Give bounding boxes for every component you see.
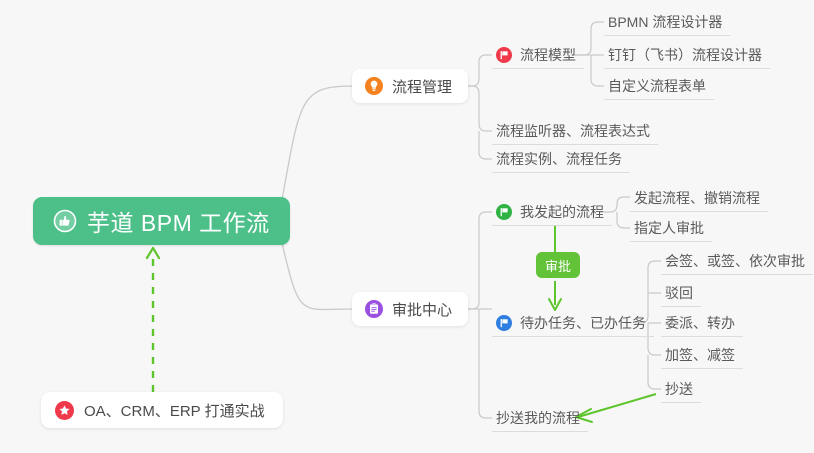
leaf-reject[interactable]: 驳回: [661, 279, 701, 307]
leaf-add-remove-sign[interactable]: 加签、减签: [661, 341, 743, 369]
bottom-card-to-root-arrowhead: [147, 248, 159, 258]
leaf-label-delegate-transfer: 委派、转办: [665, 313, 735, 333]
leaf-label-start-cancel-process: 发起流程、撤销流程: [634, 188, 760, 208]
connector-pm-trunk: [464, 55, 492, 86]
connector-ac-to-initiated: [464, 212, 492, 309]
leaf-delegate-transfer[interactable]: 委派、转办: [661, 309, 743, 337]
leaf-multi-sign[interactable]: 会签、或签、依次审批: [661, 247, 813, 275]
leaf-label-assignee-approval: 指定人审批: [634, 218, 704, 238]
node-label-cc-my-process: 抄送我的流程: [496, 408, 580, 428]
branch-node-process-management[interactable]: 流程管理: [352, 69, 468, 103]
leaf-start-cancel-process[interactable]: 发起流程、撤销流程: [630, 184, 768, 212]
leaf-label-dingtalk-designer: 钉钉（飞书）流程设计器: [608, 45, 762, 65]
connector-model-to-form: [591, 55, 604, 86]
node-process-model[interactable]: 流程模型: [492, 41, 584, 69]
leaf-bpmn-designer[interactable]: BPMN 流程设计器: [604, 8, 730, 36]
bottom-callout-card[interactable]: OA、CRM、ERP 打通实战: [41, 392, 283, 428]
branch-label-approval-center: 审批中心: [392, 299, 452, 320]
node-label-process-instance: 流程实例、流程任务: [496, 149, 622, 169]
leaf-dingtalk-designer[interactable]: 钉钉（飞书）流程设计器: [604, 41, 770, 69]
connector-ac-to-cc: [479, 309, 492, 418]
leaf-assignee-approval[interactable]: 指定人审批: [630, 214, 712, 242]
lightbulb-icon: [365, 77, 383, 95]
node-todo-done-tasks[interactable]: 待办任务、已办任务: [492, 309, 654, 337]
connector-pm-to-listener: [464, 86, 492, 131]
node-label-todo-done-tasks: 待办任务、已办任务: [520, 313, 646, 333]
clipboard-icon: [365, 300, 383, 318]
node-label-my-initiated: 我发起的流程: [520, 202, 604, 222]
connector-initiated-to-assignee: [617, 212, 630, 228]
cc-reference-arrow: [578, 394, 656, 417]
leaf-label-cc: 抄送: [665, 379, 693, 399]
connector-todo-to-cc: [648, 355, 661, 389]
thumbs-up-icon: [53, 209, 77, 233]
connector-root-to-process-management: [282, 86, 352, 200]
branch-node-approval-center[interactable]: 审批中心: [352, 292, 468, 326]
flag-icon: [496, 47, 512, 63]
leaf-cc[interactable]: 抄送: [661, 375, 701, 403]
node-process-listener[interactable]: 流程监听器、流程表达式: [492, 117, 658, 145]
node-label-process-model: 流程模型: [520, 45, 576, 65]
flag-icon: [496, 315, 512, 331]
approval-pill: 审批: [536, 252, 580, 278]
node-process-instance[interactable]: 流程实例、流程任务: [492, 145, 630, 173]
star-icon: [55, 401, 74, 420]
node-my-initiated[interactable]: 我发起的流程: [492, 198, 612, 226]
bottom-callout-label: OA、CRM、ERP 打通实战: [84, 400, 265, 421]
leaf-label-add-remove-sign: 加签、减签: [665, 345, 735, 365]
flag-icon: [496, 204, 512, 220]
leaf-label-custom-form: 自定义流程表单: [608, 76, 706, 96]
connector-root-to-approval-center: [282, 243, 352, 310]
root-node[interactable]: 芋道 BPM 工作流: [33, 197, 290, 245]
leaf-custom-form[interactable]: 自定义流程表单: [604, 72, 714, 100]
node-label-process-listener: 流程监听器、流程表达式: [496, 121, 650, 141]
leaf-label-bpmn-designer: BPMN 流程设计器: [608, 12, 722, 32]
branch-label-process-management: 流程管理: [392, 76, 452, 97]
node-cc-my-process[interactable]: 抄送我的流程: [492, 404, 588, 432]
leaf-label-reject: 驳回: [665, 283, 693, 303]
approval-pill-label: 审批: [545, 256, 571, 275]
connector-pm-to-instance: [479, 131, 492, 159]
root-label: 芋道 BPM 工作流: [87, 204, 270, 238]
leaf-label-multi-sign: 会签、或签、依次审批: [665, 251, 805, 271]
mindmap-canvas: 芋道 BPM 工作流 流程管理 流程模型 BPMN 流程设计器 钉钉（飞书: [0, 0, 814, 453]
